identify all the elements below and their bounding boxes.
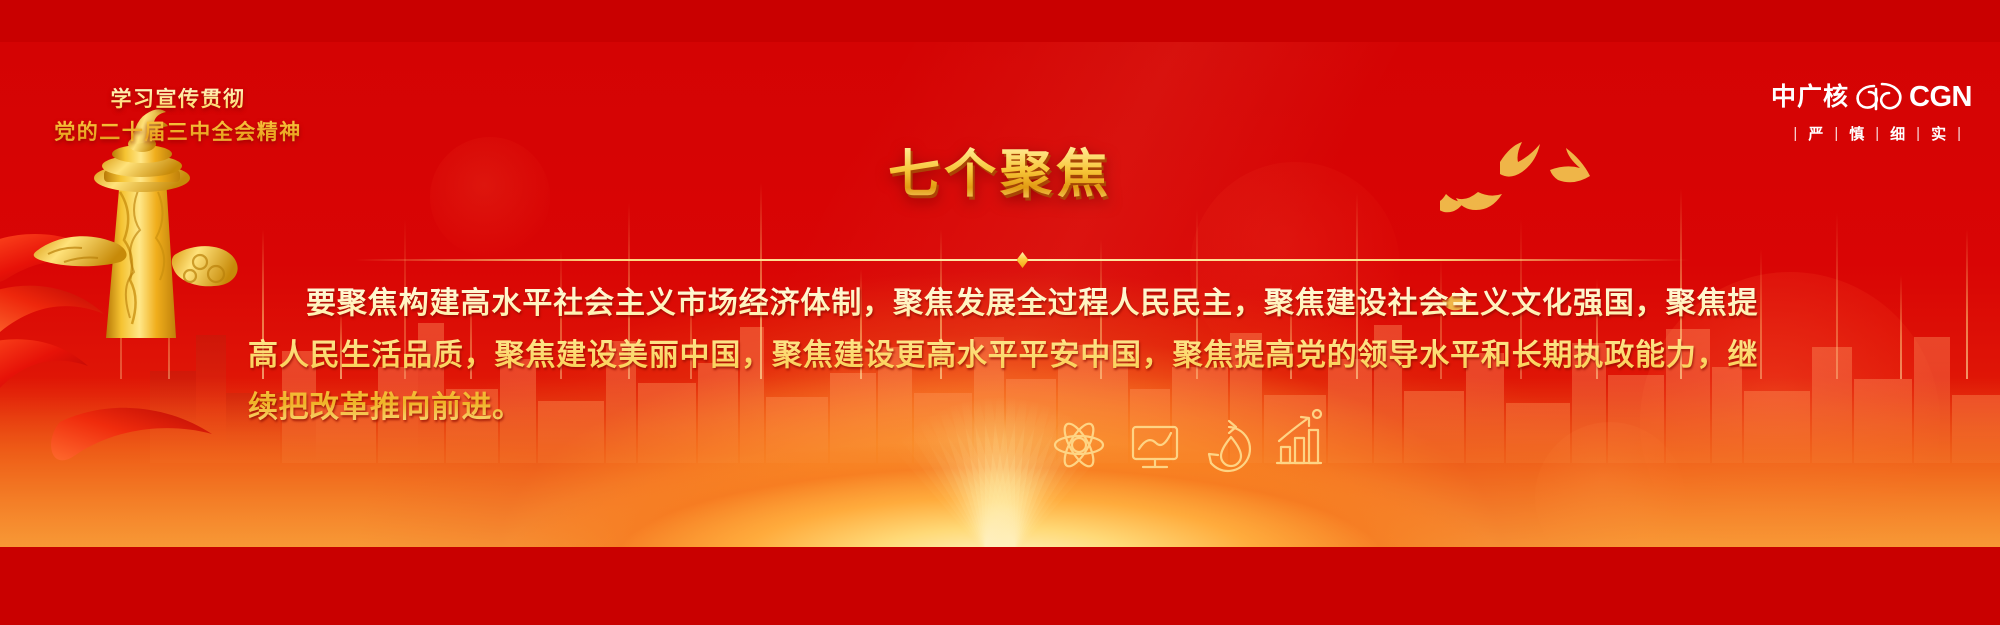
light-streak xyxy=(1966,229,1968,379)
tagline-char: 严 xyxy=(1808,123,1824,144)
light-streak xyxy=(1900,275,1902,379)
tagline-char: 慎 xyxy=(1849,123,1865,144)
light-streak xyxy=(1760,249,1762,379)
tagline-separator: | xyxy=(1824,125,1849,142)
logo-name-cn: 中广核 xyxy=(1771,85,1849,110)
tagline-separator: | xyxy=(1906,125,1931,142)
body-paragraph: 要聚焦构建高水平社会主义市场经济体制，聚焦发展全过程人民民主，聚焦建设社会主义文… xyxy=(248,278,1758,434)
tagline-separator: | xyxy=(1947,125,1972,142)
banner-stage: 学习宣传贯彻 党的二十届三中全会精神 七个聚焦 要聚焦构建高水平社会主义市场经济… xyxy=(0,0,2000,625)
logo-tagline: |严|慎|细|实| xyxy=(1734,123,1972,144)
tagline-separator: | xyxy=(1783,125,1808,142)
cgn-logo: 中广核 CGN |严|慎|细|实| xyxy=(1734,80,1972,144)
tagline-char: 实 xyxy=(1931,123,1947,144)
tagline-separator: | xyxy=(1865,125,1890,142)
propaganda-banner: 学习宣传贯彻 党的二十届三中全会精神 七个聚焦 要聚焦构建高水平社会主义市场经济… xyxy=(0,42,2000,547)
tagline-char: 细 xyxy=(1890,123,1906,144)
light-streak xyxy=(1836,213,1838,379)
logo-name-en: CGN xyxy=(1909,83,1972,112)
gold-divider xyxy=(355,258,1690,262)
cgn-swirl-icon xyxy=(1852,80,1906,114)
logo-mark-row: 中广核 CGN xyxy=(1734,80,1972,114)
base-ribbon xyxy=(51,408,212,461)
page-title: 七个聚焦 xyxy=(0,132,2000,207)
